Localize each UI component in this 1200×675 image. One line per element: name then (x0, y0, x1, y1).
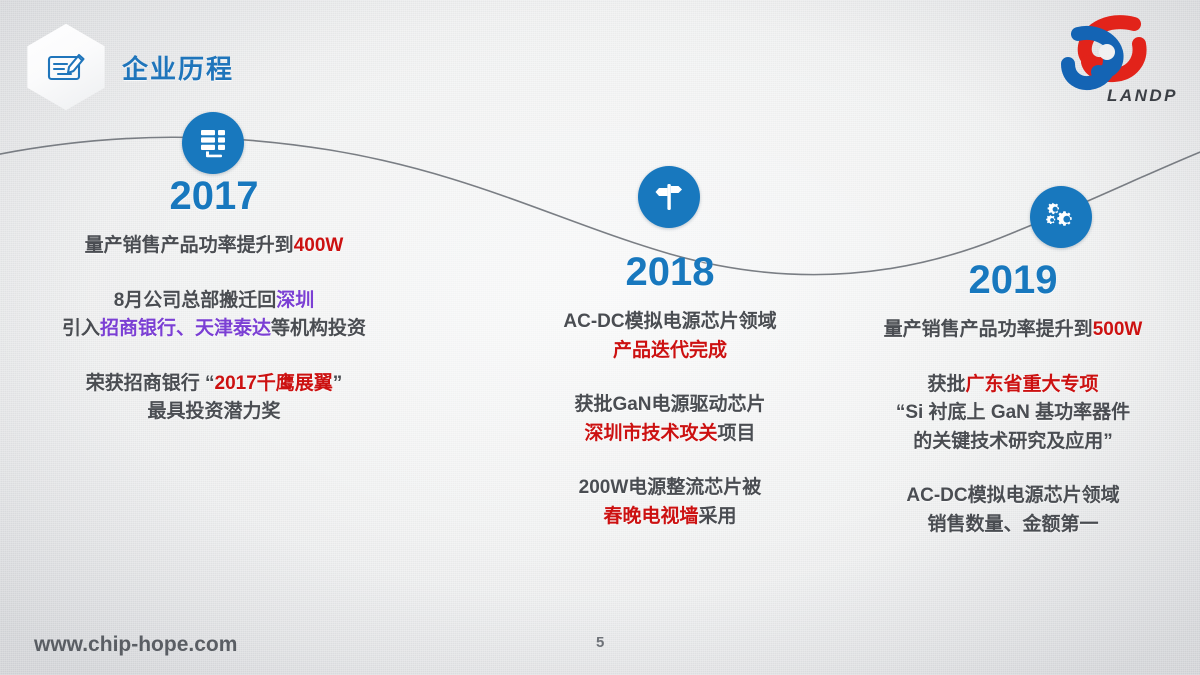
milestone-column-2018: 2018 AC-DC模拟电源芯片领域产品迭代完成获批GaN电源驱动芯片深圳市技术… (470, 252, 870, 531)
document-pen-icon (44, 45, 88, 89)
milestone-paragraph: AC-DC模拟电源芯片领域产品迭代完成 (470, 308, 870, 365)
highlight-red: 400W (294, 235, 344, 256)
milestone-body: 量产销售产品功率提升到400W8月公司总部搬迁回深圳引入招商银行、天津泰达等机构… (24, 232, 404, 427)
text-segment: 等机构投资 (271, 318, 366, 339)
milestone-column-2019: 2019 量产销售产品功率提升到500W获批广东省重大专项“Si 衬底上 GaN… (826, 260, 1200, 539)
text-segment: “Si 衬底上 GaN 基功率器件 (896, 402, 1130, 423)
highlight-red: 广东省重大专项 (966, 374, 1099, 395)
milestone-year: 2017 (24, 176, 404, 216)
highlight-red: 500W (1093, 319, 1143, 340)
text-segment: ” (333, 373, 343, 394)
milestone-node-2018 (638, 166, 700, 228)
server-rack-icon (196, 126, 230, 160)
page-number: 5 (596, 634, 604, 651)
milestone-body: AC-DC模拟电源芯片领域产品迭代完成获批GaN电源驱动芯片深圳市技术攻关项目2… (470, 308, 870, 531)
milestone-node-2017 (182, 112, 244, 174)
milestone-paragraph: 200W电源整流芯片被春晚电视墙采用 (470, 474, 870, 531)
text-segment: 8月公司总部搬迁回 (114, 290, 277, 311)
slide-canvas: 企业历程 LANDP (0, 0, 1200, 675)
gears-icon (1044, 200, 1078, 234)
text-segment: AC-DC模拟电源芯片领域 (563, 311, 776, 332)
text-segment: 销售数量、金额第一 (927, 514, 1098, 535)
text-segment: 项目 (718, 423, 756, 444)
highlight-red: 2017千鹰展翼 (215, 373, 333, 394)
text-segment: 200W电源整流芯片被 (579, 477, 762, 498)
milestone-paragraph: 量产销售产品功率提升到500W (826, 316, 1200, 345)
highlight-red: 春晚电视墙 (603, 506, 698, 527)
text-segment: AC-DC模拟电源芯片领域 (906, 485, 1119, 506)
milestone-paragraph: 8月公司总部搬迁回深圳引入招商银行、天津泰达等机构投资 (24, 287, 404, 344)
text-segment: 引入 (62, 318, 100, 339)
footer-website: www.chip-hope.com (34, 633, 237, 657)
milestone-paragraph: 获批广东省重大专项“Si 衬底上 GaN 基功率器件的关键技术研究及应用” (826, 371, 1200, 457)
milestone-year: 2019 (826, 260, 1200, 300)
signpost-icon (652, 180, 686, 214)
highlight-purple: 招商银行、天津泰达 (100, 318, 271, 339)
text-segment: 量产销售产品功率提升到 (884, 319, 1093, 340)
logo-wordmark: LANDP (1107, 86, 1178, 106)
company-logo: LANDP (1038, 12, 1188, 112)
milestone-paragraph: 获批GaN电源驱动芯片深圳市技术攻关项目 (470, 391, 870, 448)
text-segment: 的关键技术研究及应用” (913, 431, 1113, 452)
milestone-year: 2018 (470, 252, 870, 292)
milestone-node-2019 (1030, 186, 1092, 248)
text-segment: 量产销售产品功率提升到 (85, 235, 294, 256)
milestone-column-2017: 2017 量产销售产品功率提升到400W8月公司总部搬迁回深圳引入招商银行、天津… (24, 176, 404, 427)
text-segment: 采用 (699, 506, 737, 527)
text-segment: 最具投资潜力奖 (147, 401, 280, 422)
highlight-purple: 深圳 (276, 290, 314, 311)
slide-header: 企业历程 (24, 22, 234, 112)
milestone-paragraph: 荣获招商银行 “2017千鹰展翼”最具投资潜力奖 (24, 370, 404, 427)
page-title: 企业历程 (122, 49, 234, 86)
text-segment: 获批GaN电源驱动芯片 (574, 394, 765, 415)
highlight-red: 产品迭代完成 (613, 340, 727, 361)
header-hex-badge (24, 22, 108, 112)
milestone-paragraph: AC-DC模拟电源芯片领域销售数量、金额第一 (826, 482, 1200, 539)
text-segment: 获批 (927, 374, 965, 395)
milestone-paragraph: 量产销售产品功率提升到400W (24, 232, 404, 261)
milestone-body: 量产销售产品功率提升到500W获批广东省重大专项“Si 衬底上 GaN 基功率器… (826, 316, 1200, 539)
text-segment: 荣获招商银行 “ (86, 373, 215, 394)
highlight-red: 深圳市技术攻关 (584, 423, 717, 444)
